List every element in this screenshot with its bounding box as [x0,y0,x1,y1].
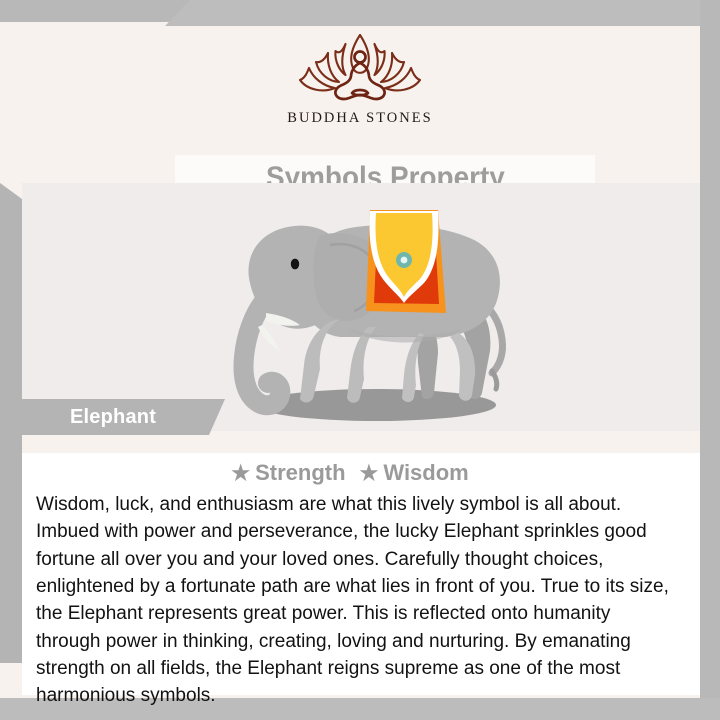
trait-list: ★Strength★Wisdom [36,461,678,485]
lotus-meditation-figure-icon [285,30,435,108]
symbol-name: Elephant [70,406,156,429]
header: BUDDHA STONES Symbols Property [20,26,700,181]
star-icon: ★ [231,462,250,485]
brand-wordmark: BUDDHA STONES [287,110,432,127]
trait-strength: Strength [255,460,345,485]
illustration-stage [22,183,700,431]
star-icon: ★ [360,462,379,485]
right-frame-bar [700,0,720,720]
symbol-name-banner: Elephant [22,399,225,435]
description-panel: ★Strength★Wisdom Wisdom, luck, and enthu… [22,453,700,695]
symbol-property-card: BUDDHA STONES Symbols Property [0,0,720,720]
elephant-eye [291,259,299,270]
description-text: Wisdom, luck, and enthusiasm are what th… [36,491,677,709]
trait-wisdom: Wisdom [383,460,468,485]
brand-logo: BUDDHA STONES [20,30,700,127]
left-accent-bar [0,183,22,663]
